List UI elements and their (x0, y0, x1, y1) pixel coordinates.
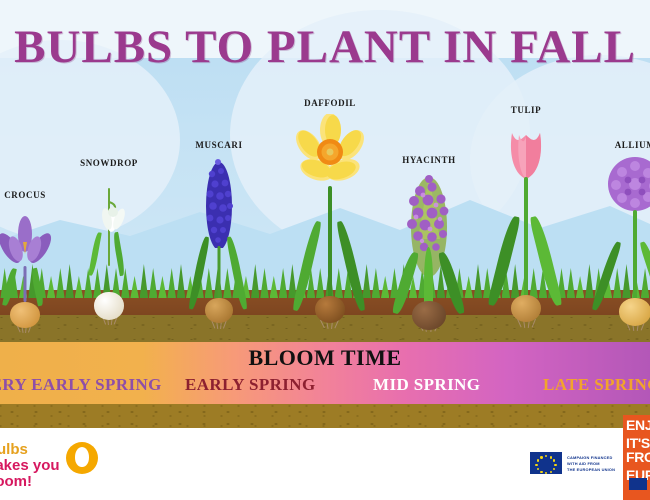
tulip-flower-icon (502, 121, 550, 183)
phase-very-early-spring: VERY EARLY SPRING (0, 375, 162, 395)
muscari-leaf-right (226, 236, 248, 310)
plant-label-snowdrop: SNOWDROP (80, 158, 138, 168)
crocus-bulb (10, 302, 40, 328)
enjoy-badge-flag-icon (629, 478, 647, 490)
eu-funding-text: CAMPAIGN FINANCED WITH AID FROM THE EURO… (567, 452, 615, 474)
eu-flag-icon (530, 452, 562, 474)
daffodil-flower-icon (292, 114, 368, 190)
muscari-leaf-left (188, 236, 210, 310)
eu-text-line-3: THE EUROPEAN UNION (567, 467, 615, 473)
phase-mid-spring: MID SPRING (373, 375, 480, 395)
plant-snowdrop[interactable]: SNOWDROP (80, 158, 138, 326)
soil-layer-bottom (0, 404, 650, 428)
daffodil-stem (328, 186, 332, 308)
page-title: BULBS TO PLANT IN FALL (0, 20, 650, 74)
eu-funding-notice: CAMPAIGN FINANCED WITH AID FROM THE EURO… (530, 452, 615, 474)
enjoy-its-from-europe-badge: ENJOY! IT'S FROM EUROPE (623, 415, 650, 500)
tulip-leaf-left (487, 215, 521, 307)
crocus-stem (24, 266, 27, 302)
daffodil-leaf-left (292, 220, 322, 312)
snowdrop-flower-icon (86, 200, 132, 242)
snowdrop-bulb (94, 292, 124, 320)
plant-label-allium: ALLIUM (615, 140, 650, 150)
allium-stem (633, 210, 637, 308)
plant-label-crocus: CROCUS (4, 190, 46, 200)
daffodil-leaf-right (336, 220, 366, 312)
eu-text-line-1: CAMPAIGN FINANCED (567, 455, 615, 461)
plant-label-muscari: MUSCARI (195, 140, 242, 150)
hyacinth-bulb (412, 301, 446, 330)
plant-label-daffodil: DAFFODIL (304, 98, 356, 108)
bloom-time-heading: BLOOM TIME (0, 345, 650, 371)
infographic-poster: BULBS TO PLANT IN FALL CROCUS (0, 0, 650, 500)
allium-flower-icon (604, 154, 650, 214)
daffodil-bulb (315, 296, 345, 323)
enjoy-line-2: IT'S FROM (623, 433, 650, 465)
tulip-bulb (511, 295, 541, 322)
enjoy-line-1: ENJOY! (623, 415, 650, 433)
bloom-time-band: BLOOM TIME VERY EARLY SPRING EARLY SPRIN… (0, 342, 650, 404)
bulb-logo-icon (66, 442, 98, 474)
plant-muscari[interactable]: MUSCARI (185, 140, 253, 328)
plant-crocus[interactable]: CROCUS (0, 190, 58, 325)
muscari-bulb (205, 298, 233, 323)
plant-daffodil[interactable]: DAFFODIL (288, 98, 372, 328)
tulip-leaf-right (529, 215, 563, 307)
allium-bulb (619, 298, 650, 326)
plant-allium[interactable]: ALLIUM (598, 140, 650, 328)
plant-tulip[interactable]: TULIP (490, 105, 562, 327)
ibulbs-logo[interactable]: iBulbs makes you bloom! (0, 442, 102, 489)
plant-label-tulip: TULIP (511, 105, 542, 115)
muscari-flower-icon (202, 156, 236, 248)
phase-early-spring: EARLY SPRING (185, 375, 316, 395)
tulip-stem (524, 177, 528, 303)
plant-label-hyacinth: HYACINTH (402, 155, 455, 165)
plant-hyacinth[interactable]: HYACINTH (392, 155, 466, 330)
muscari-stem (218, 246, 221, 306)
crocus-flower-icon (0, 204, 58, 274)
phase-late-spring: LATE SPRING (543, 375, 650, 395)
